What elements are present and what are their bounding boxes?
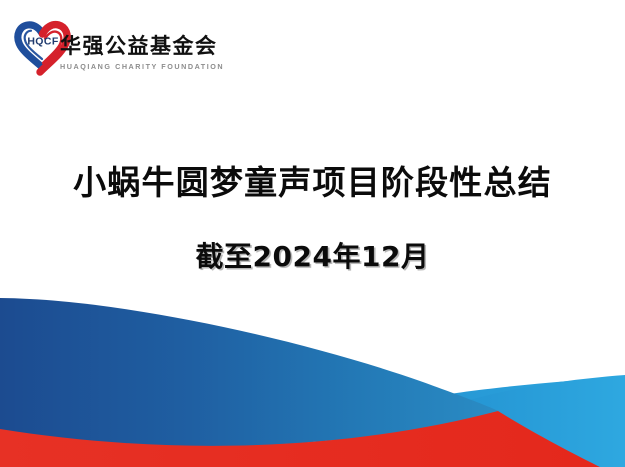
title-slide: HQCF 华强公益基金会 HUAQIANG CHARITY FOUNDATION… (0, 0, 625, 467)
logo-monogram-text: HQCF (27, 36, 59, 48)
logo-wordmark: 华强公益基金会 HUAQIANG CHARITY FOUNDATION (60, 34, 210, 73)
logo-name-en: HUAQIANG CHARITY FOUNDATION (60, 61, 210, 73)
logo-name-cn: 华强公益基金会 (60, 34, 210, 58)
page-title: 小蜗牛圆梦童声项目阶段性总结 (0, 163, 625, 203)
wave-blue (0, 298, 498, 450)
page-subtitle: 截至2024年12月 (0, 240, 625, 274)
organization-logo: HQCF 华强公益基金会 HUAQIANG CHARITY FOUNDATION (12, 14, 212, 82)
wave-decoration (0, 277, 625, 467)
